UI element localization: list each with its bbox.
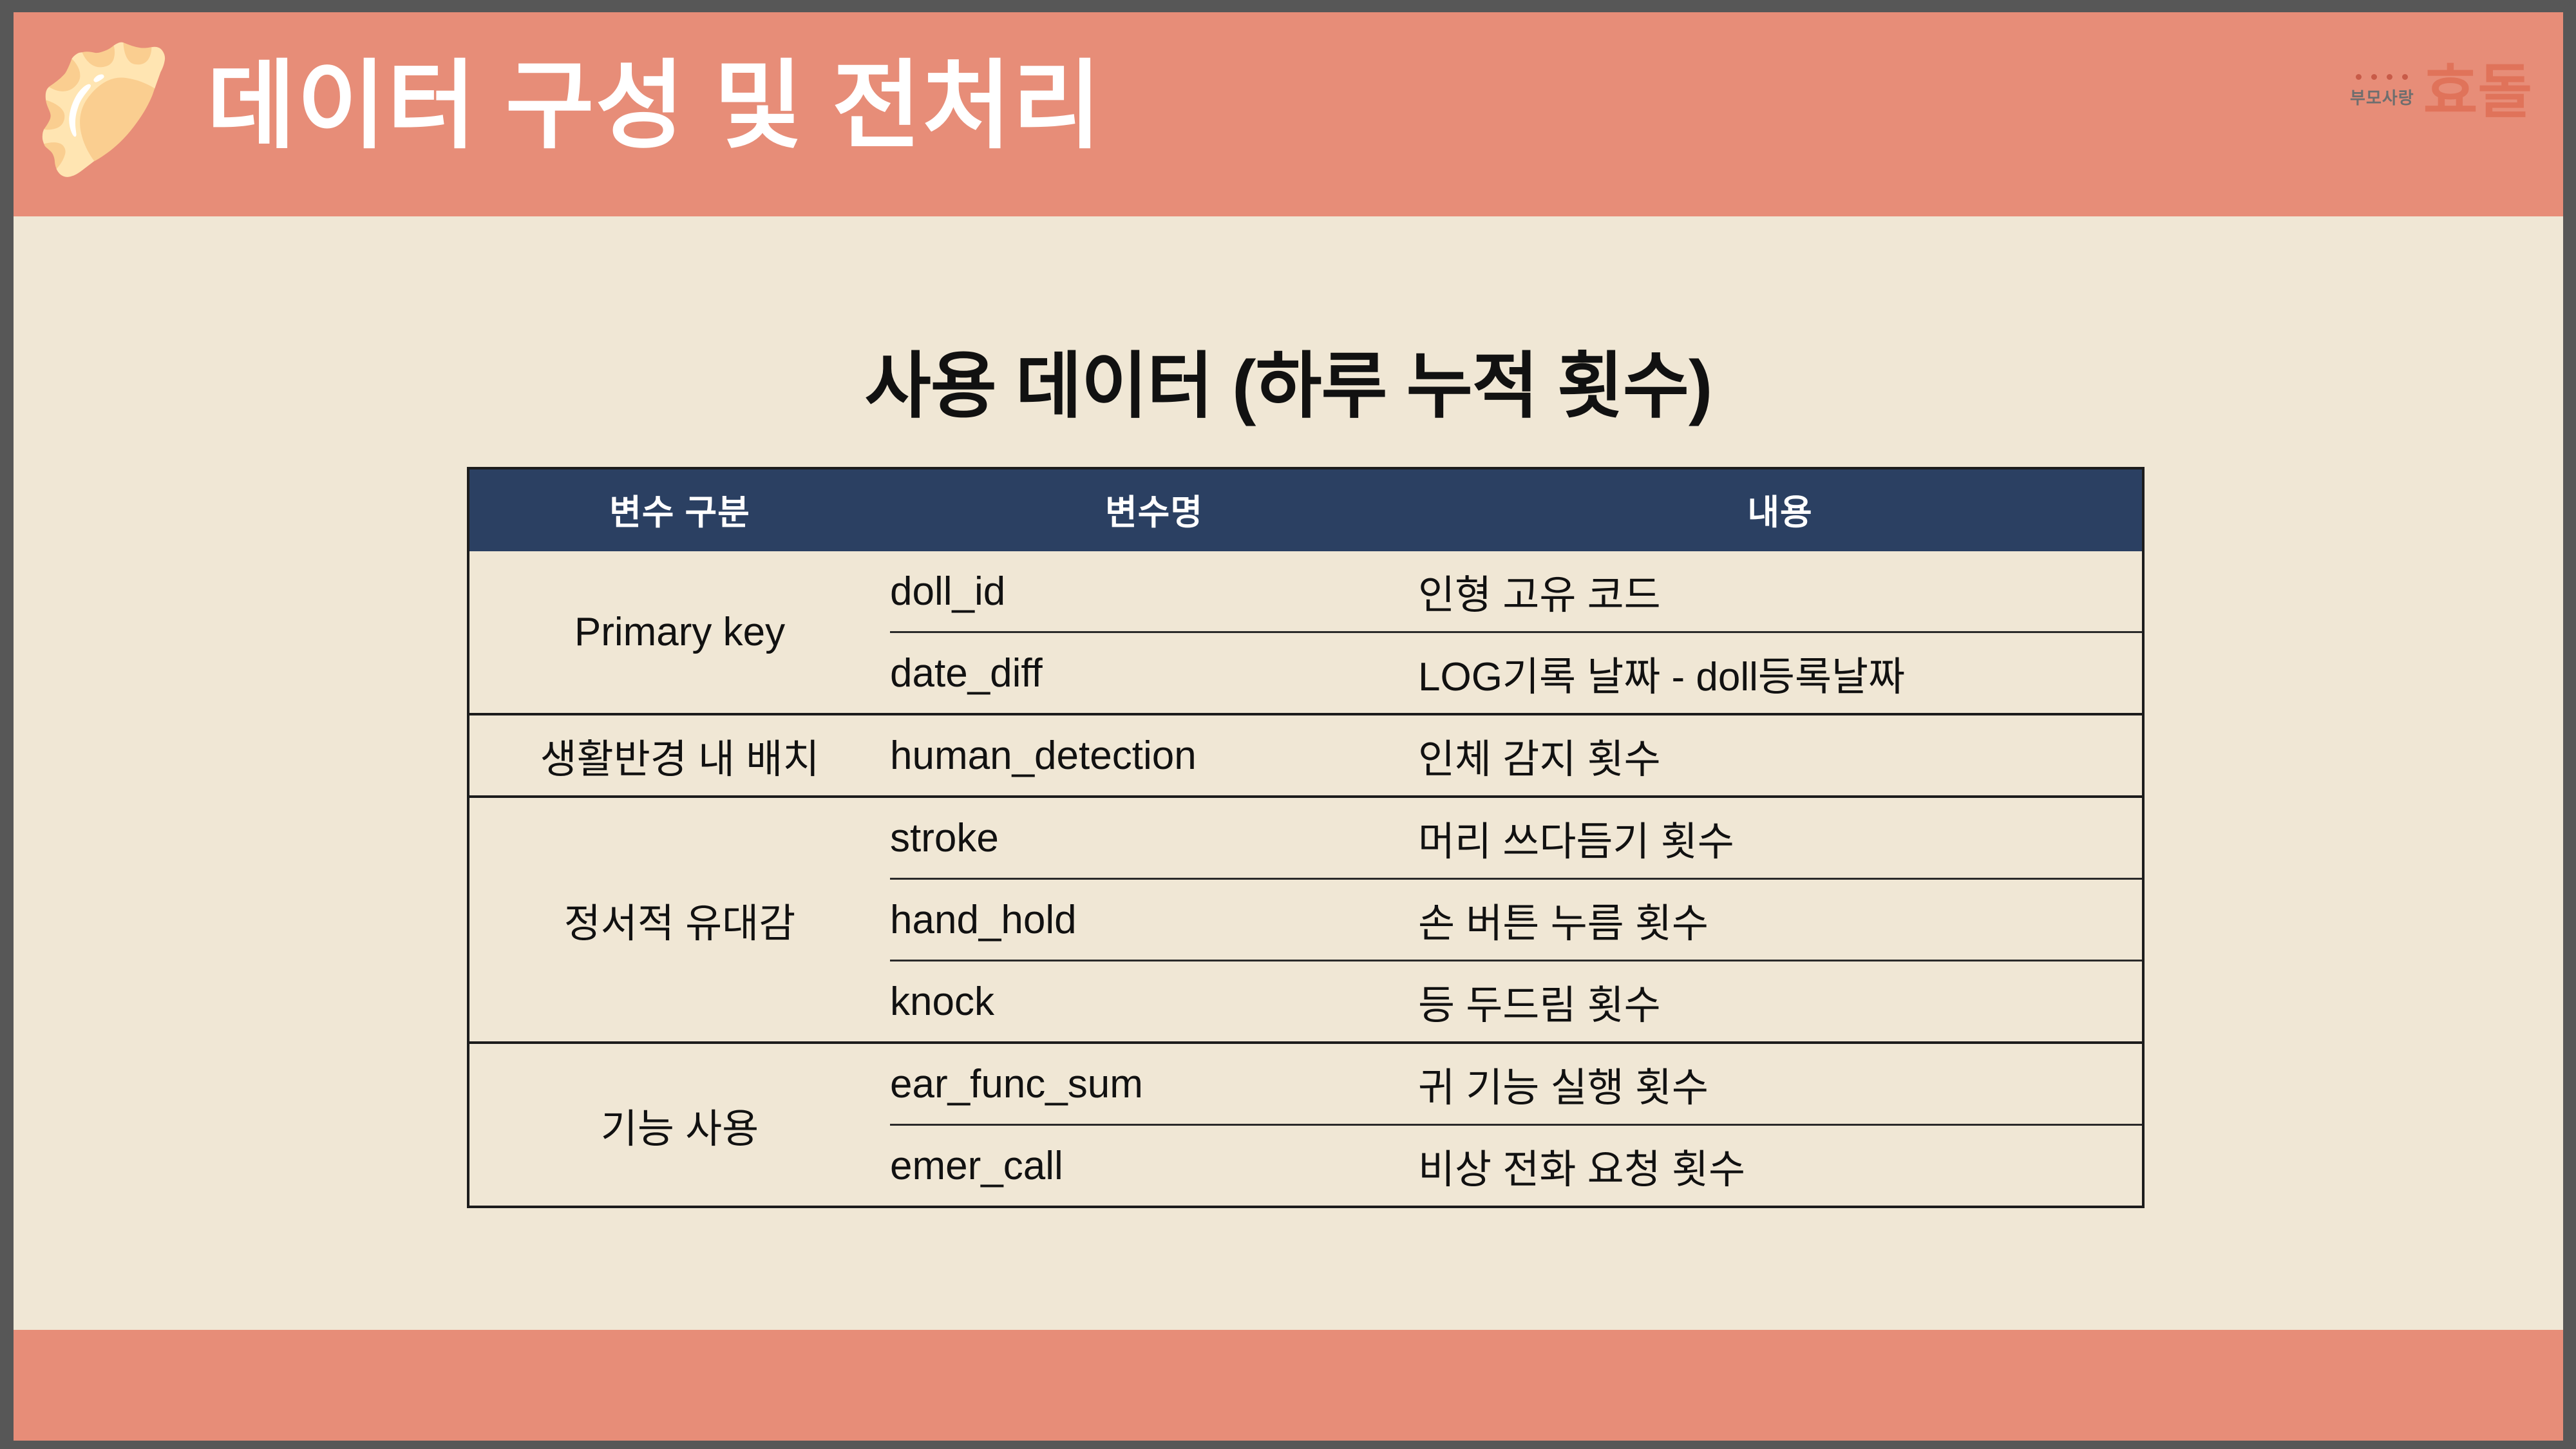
cell-variable-name: stroke (890, 797, 1418, 879)
cell-category: 기능 사용 (468, 1043, 890, 1207)
cell-description: 머리 쓰다듬기 횟수 (1418, 797, 2143, 879)
cell-category: 정서적 유대감 (468, 797, 890, 1043)
cell-description: 비상 전화 요청 횟수 (1418, 1125, 2143, 1207)
brand-logo: 부모사랑 효돌 (2350, 43, 2532, 120)
table-row: 기능 사용ear_func_sum귀 기능 실행 횟수 (468, 1043, 2143, 1125)
cell-category: Primary key (468, 551, 890, 714)
cell-description: 등 두드림 횟수 (1418, 961, 2143, 1043)
cell-description: 인체 감지 횟수 (1418, 714, 2143, 797)
column-header-variable: 변수명 (890, 468, 1418, 551)
slide-header-band: 🥟 데이터 구성 및 전처리 부모사랑 효돌 (14, 12, 2563, 216)
cell-description: 손 버튼 누름 횟수 (1418, 879, 2143, 961)
brand-dots-icon (2356, 74, 2408, 80)
cell-variable-name: ear_func_sum (890, 1043, 1418, 1125)
brand-name: 효돌 (2423, 64, 2532, 120)
slide-footer-band (14, 1330, 2563, 1441)
variable-table: 변수 구분 변수명 내용 Primary keydoll_id인형 고유 코드d… (467, 467, 2145, 1208)
table-row: 생활반경 내 배치human_detection인체 감지 횟수 (468, 714, 2143, 797)
table-row: Primary keydoll_id인형 고유 코드 (468, 551, 2143, 632)
cell-description: LOG기록 날짜 - doll등록날짜 (1418, 632, 2143, 715)
cell-variable-name: knock (890, 961, 1418, 1043)
content-title: 사용 데이터 (하루 누적 횟수) (14, 328, 2563, 432)
cell-variable-name: emer_call (890, 1125, 1418, 1207)
brand-logo-subgroup: 부모사랑 (2350, 74, 2414, 120)
cell-variable-name: date_diff (890, 632, 1418, 715)
slide-title: 데이터 구성 및 전처리 (207, 46, 1103, 167)
cell-description: 귀 기능 실행 횟수 (1418, 1043, 2143, 1125)
table-row: 정서적 유대감stroke머리 쓰다듬기 횟수 (468, 797, 2143, 879)
slide-canvas: 🥟 데이터 구성 및 전처리 부모사랑 효돌 사용 데이터 (하루 누적 횟수)… (14, 12, 2563, 1441)
cell-category: 생활반경 내 배치 (468, 714, 890, 797)
dumpling-icon: 🥟 (14, 12, 207, 207)
table-header-row: 변수 구분 변수명 내용 (468, 468, 2143, 551)
cell-variable-name: doll_id (890, 551, 1418, 632)
brand-subtitle: 부모사랑 (2350, 85, 2414, 109)
column-header-category: 변수 구분 (468, 468, 890, 551)
table-body: Primary keydoll_id인형 고유 코드date_diffLOG기록… (468, 551, 2143, 1207)
cell-variable-name: human_detection (890, 714, 1418, 797)
column-header-description: 내용 (1418, 468, 2143, 551)
cell-variable-name: hand_hold (890, 879, 1418, 961)
cell-description: 인형 고유 코드 (1418, 551, 2143, 632)
